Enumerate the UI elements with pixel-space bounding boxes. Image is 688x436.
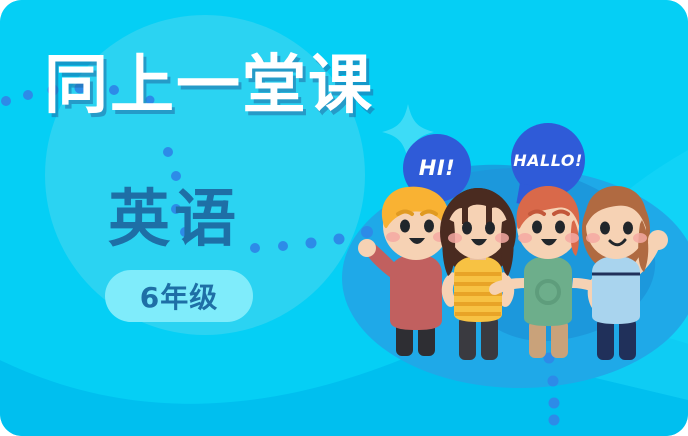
brown-girl-leg-right bbox=[619, 318, 636, 360]
redhead-boy-eye-right bbox=[555, 221, 565, 234]
redhead-boy-cheek-left bbox=[518, 233, 532, 243]
brunette-girl-hair-right bbox=[501, 218, 514, 276]
redhead-boy-shirt bbox=[524, 256, 572, 326]
brown-girl-cheek-right bbox=[633, 233, 647, 243]
brunette-girl-leg-right bbox=[481, 316, 498, 360]
banner-subject: 英语 bbox=[108, 188, 240, 250]
character-blonde-boy-waving bbox=[358, 187, 449, 356]
redhead-boy-cheek-right bbox=[565, 233, 579, 243]
brunette-girl-eye-right bbox=[485, 222, 495, 235]
brunette-girl-cheek-right bbox=[495, 233, 509, 243]
brown-girl-eye-left bbox=[600, 222, 610, 235]
redhead-boy-eye-left bbox=[532, 221, 542, 234]
brunette-girl-leg-left bbox=[459, 316, 476, 360]
speech-bubble-hallo-text: HALLO! bbox=[513, 151, 583, 170]
brown-girl-eye-right bbox=[623, 222, 633, 235]
character-brunette-girl-striped bbox=[440, 188, 516, 360]
brown-girl-leg-left bbox=[597, 318, 614, 360]
brown-girl-shirt bbox=[592, 256, 640, 324]
blonde-boy-eye-right bbox=[424, 220, 434, 233]
blonde-boy-hand-waving bbox=[358, 239, 376, 257]
speech-bubble-hi-text: HI! bbox=[419, 156, 455, 180]
course-banner: 同上一堂课 英语 6年级 HI! HALLO! bbox=[0, 0, 688, 436]
grade-badge-label: 6年级 bbox=[140, 276, 218, 316]
children-illustration bbox=[352, 180, 688, 360]
brunette-girl-eye-left bbox=[462, 222, 472, 235]
banner-title-main: 同上一堂课 bbox=[44, 52, 374, 121]
blonde-boy-eye-left bbox=[400, 220, 410, 233]
brunette-girl-cheek-left bbox=[448, 233, 462, 243]
brown-girl-hand-waving bbox=[648, 230, 668, 250]
blonde-boy-cheek-left bbox=[386, 232, 400, 242]
character-brown-hair-girl-waving bbox=[582, 186, 668, 360]
brunette-girl-hair-left bbox=[442, 218, 455, 276]
grade-badge: 6年级 bbox=[105, 270, 253, 322]
brown-girl-cheek-left bbox=[586, 233, 600, 243]
blonde-boy-sweater bbox=[390, 254, 442, 330]
